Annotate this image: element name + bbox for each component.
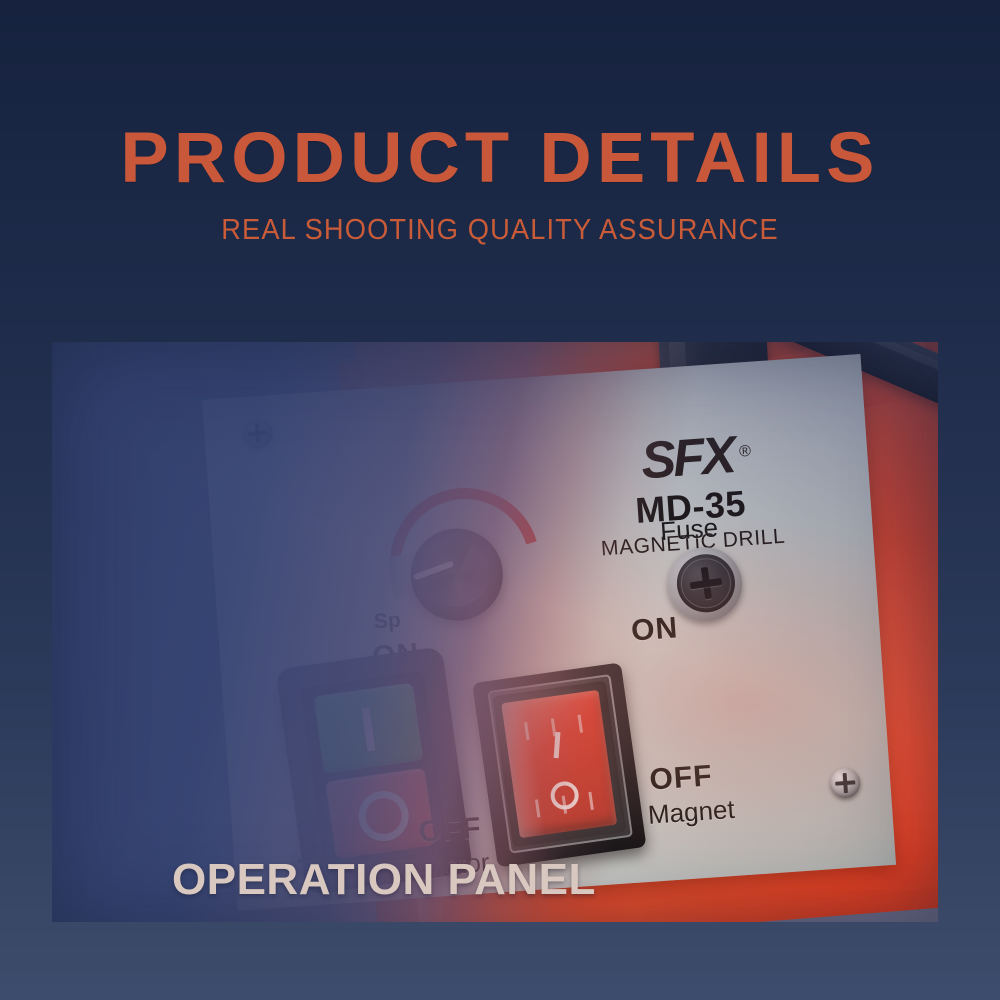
product-details-poster: PRODUCT DETAILS REAL SHOOTING QUALITY AS… [0,0,1000,1000]
motor-off-label: OFF [418,812,483,850]
magnet-on-label: ON [630,611,679,648]
brand-logo: SFX ® [639,429,735,487]
speed-label: Sp [373,609,401,635]
fuse-label: Fuse [659,512,719,547]
magnet-switch-block [472,662,646,867]
caption-block: OPERATION PANEL THE MOTOR CAN ONLY BE ST… [172,858,602,922]
faceplate-screw-bottom-right [829,767,861,799]
caption-body: THE MOTOR CAN ONLY BE STARTED WHEN THE M… [172,902,589,922]
knob-pointer-icon [413,560,455,580]
magnet-switch-bezel [492,681,626,847]
brand-logo-text: SFX [639,426,735,490]
control-faceplate: SFX ® MD-35 MAGNETIC DRILL Sp ON Fuse [202,354,896,911]
product-photo: SFX ® MD-35 MAGNETIC DRILL Sp ON Fuse [52,342,938,922]
magnet-off-label: OFF [648,759,713,797]
magnet-rocker-switch[interactable] [501,690,617,838]
caption-heading: OPERATION PANEL [172,858,602,902]
registered-trademark-icon: ® [737,426,752,479]
page-subtitle: REAL SHOOTING QUALITY ASSURANCE [30,192,970,246]
power-off-symbol-icon [355,788,411,844]
screw-slot [836,780,855,785]
fuse-cap[interactable] [673,550,739,616]
poster-header: PRODUCT DETAILS REAL SHOOTING QUALITY AS… [0,0,1000,246]
screw-slot [248,431,267,436]
faceplate-screw-top-left [241,417,273,449]
page-title: PRODUCT DETAILS [0,0,1000,192]
magnet-name-label: Magnet [647,794,736,831]
power-on-symbol-icon [361,707,375,752]
motor-start-button[interactable] [313,683,423,774]
